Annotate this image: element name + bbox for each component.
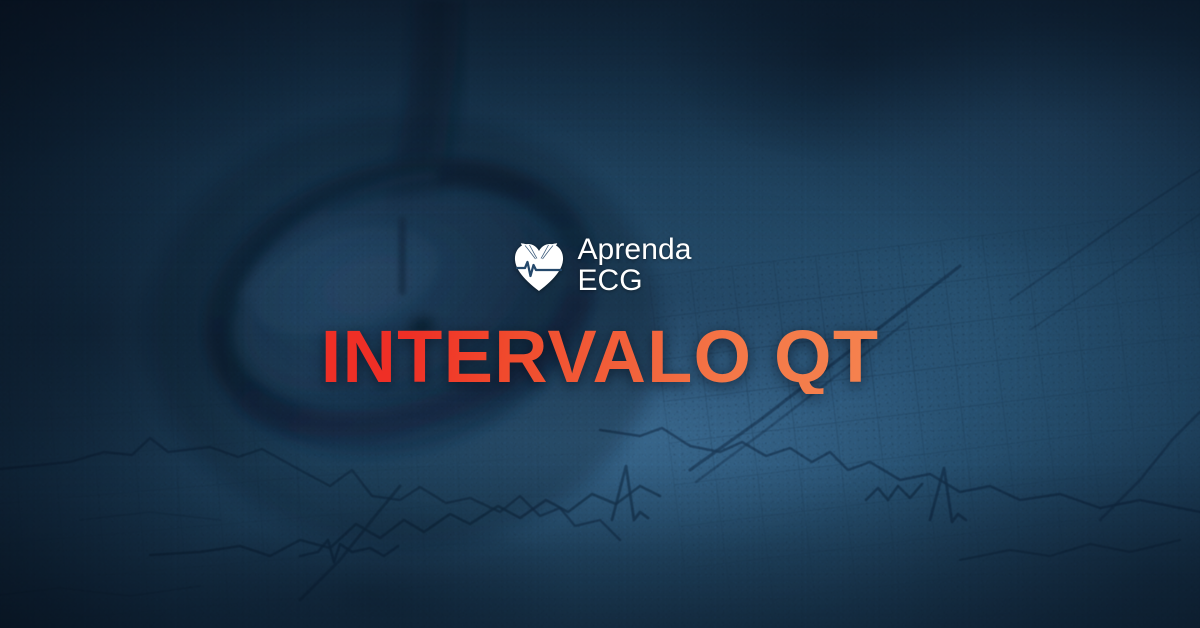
brand-wordmark: Aprenda ECG <box>577 234 691 296</box>
brand-line-2: ECG <box>577 265 691 296</box>
heart-book-ecg-icon <box>514 239 564 292</box>
banner-content: Aprenda ECG INTERVALO QT <box>0 0 1200 628</box>
promo-banner: Aprenda ECG INTERVALO QT <box>0 0 1200 628</box>
page-title: INTERVALO QT <box>317 320 883 394</box>
brand-lockup: Aprenda ECG <box>514 234 691 296</box>
brand-line-1: Aprenda <box>577 234 691 265</box>
